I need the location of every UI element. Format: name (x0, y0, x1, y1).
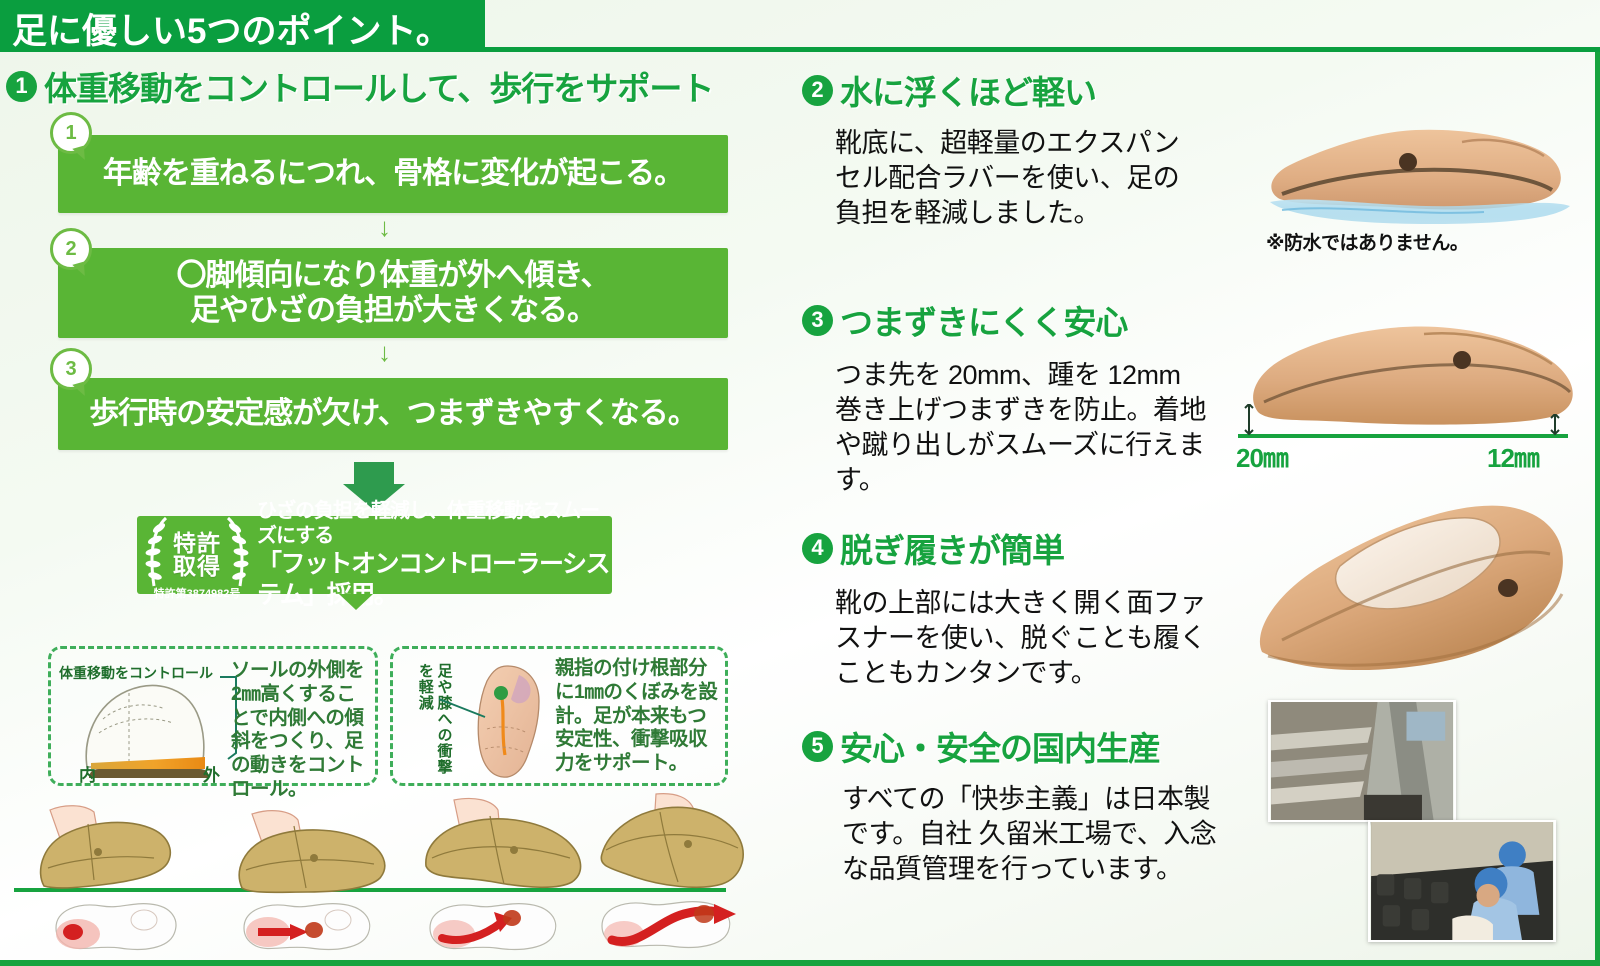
infographic-page: 足に優しい5つのポイント。 1 体重移動をコントロールして、歩行をサポート 1 … (0, 0, 1600, 966)
page-title: 足に優しい5つのポイント。 (12, 3, 451, 54)
walk-shoe-stage-1 (28, 800, 208, 892)
walk-shoe-stage-2 (228, 808, 414, 894)
section-body-4: 靴の上部には大きく開く面ファスナーを使い、脱ぐことも履くこともカンタンです。 (835, 586, 1213, 691)
detail-box-insole: 足や膝への衝撃を軽減 親指の付け根部分に1㎜のくぼみを設計。足が本来もつ安定性、… (390, 646, 728, 786)
footprint-stage-3 (414, 898, 570, 956)
section-title-2: 水に浮くほど軽い (840, 66, 1096, 114)
section-number-4: 4 (802, 533, 833, 564)
shoe-open-fastener-photo (1232, 480, 1592, 700)
section-heading-3: 3 つまずきにくく安心 (802, 296, 1127, 344)
water-floating-shoe-photo (1230, 102, 1585, 230)
section-title-4: 脱ぎ履きが簡単 (840, 524, 1064, 572)
toe-measurement-label: 20㎜ (1236, 438, 1288, 475)
insole-diagram (463, 663, 553, 781)
flow-box-1-line-1: 年齢を重ねるにつれ、骨格に変化が起こる。 (103, 156, 683, 191)
detail-box-sole: 体重移動をコントロール 内 外 ソールの外側を2㎜高くすることで内側への傾斜をつ… (48, 646, 378, 786)
section-title-1: 体重移動をコントロールして、歩行をサポート (44, 62, 713, 110)
detail-right-callout: 足や膝への衝撃を軽減 (415, 663, 453, 783)
section-heading-1: 1 体重移動をコントロールして、歩行をサポート (6, 62, 713, 110)
flow-marker-2-label: 2 (65, 238, 76, 261)
patent-text-line-1: ひざの負担を軽減し、体重移動をスムーズにする (257, 499, 612, 549)
factory-machine-photo (1268, 700, 1456, 822)
factory-workers-photo (1368, 820, 1556, 942)
toe-height-arrow (1242, 404, 1256, 436)
detail-right-text: 親指の付け根部分に1㎜のくぼみを設計。足が本来もつ安定性、衝撃吸収力をサポート。 (555, 657, 721, 776)
footprint-stage-2 (228, 898, 384, 956)
patent-badge: 特許 取得 特許第3874982号 (141, 508, 253, 603)
detail-left-callout: 体重移動をコントロール (59, 663, 213, 683)
walk-shoe-stage-3 (414, 796, 610, 894)
flow-box-3-line-1: 歩行時の安定感が欠け、つまずきやすくなる。 (89, 396, 697, 431)
section-number-5: 5 (802, 731, 833, 762)
footprint-stage-1 (40, 898, 190, 956)
patent-banner: 特許 取得 特許第3874982号 ひざの負担を軽減し、体重移動をスムーズにする… (137, 516, 612, 594)
flow-marker-1: 1 (50, 112, 92, 154)
flow-marker-1-label: 1 (65, 122, 76, 145)
section-title-5: 安心・安全の国内生産 (840, 722, 1160, 770)
right-edge-rule (1595, 52, 1600, 966)
water-resistance-note: ※防水ではありません。 (1266, 228, 1468, 255)
patent-text-block: ひざの負担を軽減し、体重移動をスムーズにする 「フットオンコントローラーシステム… (257, 499, 612, 612)
section-heading-5: 5 安心・安全の国内生産 (802, 722, 1160, 770)
section-number-1: 1 (6, 71, 37, 102)
flow-marker-3: 3 (50, 348, 92, 390)
flow-box-2-line-2: 足やひざの負担が大きくなる。 (190, 293, 596, 328)
detail-left-inner-label: 内 (79, 761, 96, 786)
flow-marker-3-label: 3 (65, 358, 76, 381)
flow-box-2-line-1: 〇脚傾向になり体重が外へ傾き、 (177, 258, 610, 293)
flow-connector-1: ↓ (378, 214, 391, 240)
patent-banner-notch (339, 594, 373, 610)
patent-number: 特許第3874982号 (154, 585, 241, 601)
section-heading-4: 4 脱ぎ履きが簡単 (802, 524, 1064, 572)
patent-badge-line-2: 取得 (173, 555, 221, 578)
flow-box-3: 歩行時の安定感が欠け、つまずきやすくなる。 (58, 378, 728, 450)
detail-left-outer-label: 外 (203, 761, 220, 786)
flow-box-2: 〇脚傾向になり体重が外へ傾き、 足やひざの負担が大きくなる。 (58, 248, 728, 338)
section-body-3: つま先を 20mm、踵を 12mm 巻き上げつまずきを防止。着地や蹴り出しがスム… (835, 358, 1207, 498)
section-heading-2: 2 水に浮くほど軽い (802, 66, 1096, 114)
laurel-left-icon (145, 516, 171, 590)
footprint-stage-4 (586, 894, 746, 956)
section-title-3: つまずきにくく安心 (840, 296, 1127, 344)
heel-measurement-label: 12㎜ (1487, 438, 1539, 475)
section-number-3: 3 (802, 305, 833, 336)
section-body-2: 靴底に、超軽量のエクスパンセル配合ラバーを使い、足の負担を軽減しました。 (835, 126, 1205, 231)
flow-marker-2: 2 (50, 228, 92, 270)
detail-left-text: ソールの外側を2㎜高くすることで内側への傾斜をつくり、足の動きをコントロール。 (231, 659, 371, 802)
shoe-side-profile-photo (1238, 312, 1588, 432)
section-number-2: 2 (802, 75, 833, 106)
section-body-5: すべての「快歩主義」は日本製です。自社 久留米工場で、入念な品質管理を行っていま… (842, 782, 1234, 887)
insole-leader-line (439, 697, 491, 721)
bottom-rule (0, 960, 1600, 966)
heel-height-arrow (1548, 414, 1562, 436)
patent-badge-line-1: 特許 (173, 532, 221, 555)
flow-box-1: 年齢を重ねるにつれ、骨格に変化が起こる。 (58, 135, 728, 213)
laurel-right-icon (223, 516, 249, 590)
walk-shoe-stage-4 (590, 792, 770, 896)
flow-connector-2: ↓ (378, 339, 391, 365)
patent-text-line-2: 「フットオンコントローラーシステム」採用。 (257, 549, 612, 612)
